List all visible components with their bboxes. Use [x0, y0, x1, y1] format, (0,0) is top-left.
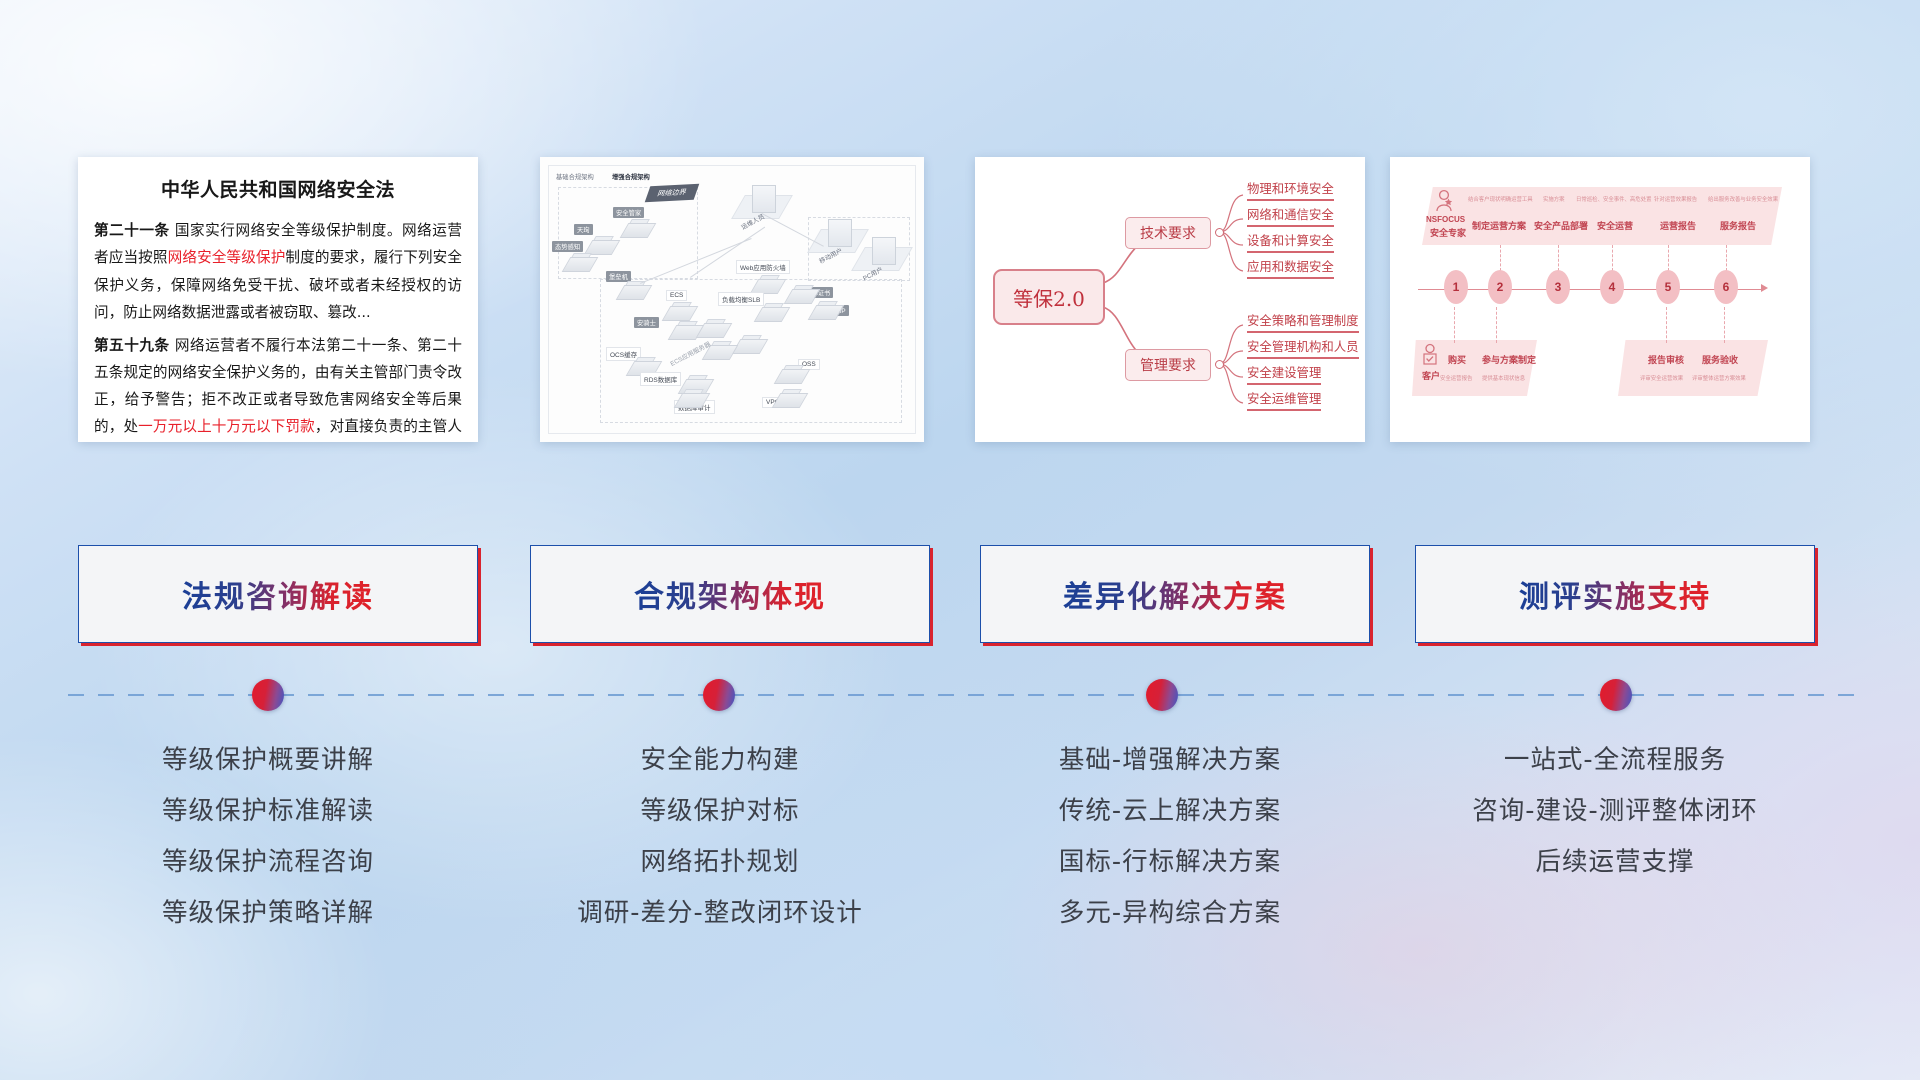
flow-step-2[interactable]: 2 [1488, 270, 1512, 304]
arch-node-tianxun: 天珣 [574, 224, 593, 235]
timeline-dashed-line [68, 694, 1858, 696]
flow-top-sub-1: 结合客户现状明确运营工具 [1468, 195, 1533, 203]
list-item: 安全能力构建 [520, 735, 920, 786]
list-item: 咨询-建设-测评整体闭环 [1405, 786, 1825, 837]
mindmap-branch-management[interactable]: 管理要求 [1125, 349, 1211, 381]
arch-bigtag-boundary: 网络边界 [645, 184, 700, 202]
flow-top-sub-5: 给出服务改善与业务安全效果 [1708, 195, 1778, 203]
mindmap-leaf-mgmt-1: 安全策略和管理制度 [1247, 311, 1359, 333]
mindmap-leaf-mgmt-2: 安全管理机构和人员 [1247, 337, 1359, 359]
list-item: 等级保护流程咨询 [68, 837, 468, 888]
arch-node-situational-awareness: 态势感知 [552, 241, 583, 252]
mindmap-leaf-tech-1: 物理和环境安全 [1247, 179, 1334, 201]
flow-bottom-title-4: 服务验收 [1702, 353, 1738, 366]
detail-column-2: 安全能力构建 等级保护对标 网络拓扑规划 调研-差分-整改闭环设计 [520, 735, 920, 939]
timeline-dot-3[interactable] [1146, 679, 1178, 711]
detail-column-4: 一站式-全流程服务 咨询-建设-测评整体闭环 后续运营支撑 [1405, 735, 1825, 888]
card-nsfocus-flow[interactable]: NSFOCUS 安全专家 客户 结合客户现状明确运营工具 制定运营方案 实施方案… [1390, 157, 1810, 442]
flow-bottom-title-1: 购买 [1448, 353, 1466, 366]
flow-bottom-sub-3: 评审安全运营效果 [1640, 374, 1683, 382]
customer-role: 客户 [1422, 369, 1440, 382]
mindmap-leaf-mgmt-4: 安全运维管理 [1247, 389, 1321, 411]
expert-role: 安全专家 [1430, 226, 1466, 239]
flow-step-4[interactable]: 4 [1600, 270, 1624, 304]
article-21-label: 第二十一条 [94, 222, 170, 239]
heading-box-differentiated-solution[interactable]: 差异化解决方案 [980, 545, 1370, 643]
flow-step-1[interactable]: 1 [1444, 270, 1468, 304]
list-item: 等级保护标准解读 [68, 786, 468, 837]
list-item: 一站式-全流程服务 [1405, 735, 1825, 786]
arch-tab-enhanced: 增强合规架构 [612, 172, 650, 181]
list-item: 基础-增强解决方案 [960, 735, 1380, 786]
list-item: 多元-异构综合方案 [960, 888, 1380, 939]
card-cloud-architecture[interactable]: 基础合规架构 增强合规架构 网络边界 安全管家 天珣 态势感知 堡垒机 ECS … [540, 157, 924, 442]
detail-column-3: 基础-增强解决方案 传统-云上解决方案 国标-行标解决方案 多元-异构综合方案 [960, 735, 1380, 939]
flow-step-3[interactable]: 3 [1546, 270, 1570, 304]
customer-person-icon [1420, 343, 1440, 367]
flow-step-5[interactable]: 5 [1656, 270, 1680, 304]
flow-top-sub-2: 实施方案 [1543, 195, 1565, 203]
mindmap-branch-technical[interactable]: 技术要求 [1125, 217, 1211, 249]
mindmap-leaf-mgmt-3: 安全建设管理 [1247, 363, 1321, 385]
flow-top-title-1: 制定运营方案 [1472, 219, 1526, 232]
heading-label-1: 法规咨询解读 [182, 572, 374, 616]
flow-top-sub-4: 针对运营效果报告 [1654, 195, 1697, 203]
timeline-dot-4[interactable] [1600, 679, 1632, 711]
flow-bottom-sub-1: 安全运营报告 [1440, 374, 1472, 382]
law-title: 中华人民共和国网络安全法 [94, 173, 462, 208]
law-article-21: 第二十一条 国家实行网络安全等级保护制度。网络运营者应当按照网络安全等级保护制度… [94, 217, 462, 326]
timeline-dot-2[interactable] [703, 679, 735, 711]
flow-top-sub-3: 日常巡检、安全事件、高危处置 [1576, 195, 1651, 203]
flow-axis-arrow-icon [1761, 284, 1768, 292]
mindmap-leaf-tech-4: 应用和数据安全 [1247, 257, 1334, 279]
article-21-highlight: 网络安全等级保护 [168, 249, 286, 266]
flow-top-title-2: 安全产品部署 [1534, 219, 1588, 232]
arch-node-anqishi: 安骑士 [634, 317, 659, 328]
arch-node-rds: RDS数据库 [640, 372, 681, 386]
arch-node-security-butler: 安全管家 [613, 207, 644, 218]
timeline-dot-1[interactable] [252, 679, 284, 711]
list-item: 国标-行标解决方案 [960, 837, 1380, 888]
heading-label-3: 差异化解决方案 [1063, 572, 1287, 616]
image-card-row: 中华人民共和国网络安全法 第二十一条 国家实行网络安全等级保护制度。网络运营者应… [0, 157, 1920, 442]
mindmap-leaf-tech-3: 设备和计算安全 [1247, 231, 1334, 253]
arch-node-ecs: ECS [666, 290, 687, 301]
heading-label-2: 合规架构体现 [634, 572, 826, 616]
heading-box-regulation-consulting[interactable]: 法规咨询解读 [78, 545, 478, 643]
flow-axis [1418, 289, 1763, 290]
list-item: 等级保护策略详解 [68, 888, 468, 939]
list-item: 调研-差分-整改闭环设计 [520, 888, 920, 939]
mindmap-collapse-icon[interactable] [1215, 228, 1224, 237]
card-cybersecurity-law[interactable]: 中华人民共和国网络安全法 第二十一条 国家实行网络安全等级保护制度。网络运营者应… [78, 157, 478, 442]
mindmap-collapse-icon-2[interactable] [1215, 360, 1224, 369]
arch-tab-basic: 基础合规架构 [556, 172, 594, 181]
list-item: 等级保护对标 [520, 786, 920, 837]
expert-name: NSFOCUS [1426, 215, 1465, 224]
mindmap-leaf-tech-2: 网络和通信安全 [1247, 205, 1334, 227]
article-59-label: 第五十九条 [94, 337, 170, 354]
heading-box-row: 法规咨询解读 合规架构体现 差异化解决方案 测评实施支持 [0, 545, 1920, 643]
flow-bottom-sub-2: 提供基本现状信息 [1482, 374, 1525, 382]
heading-label-4: 测评实施支持 [1519, 572, 1711, 616]
detail-list-row: 等级保护概要讲解 等级保护标准解读 等级保护流程咨询 等级保护策略详解 安全能力… [0, 735, 1920, 965]
flow-bottom-title-3: 报告审核 [1648, 353, 1684, 366]
flow-bottom-title-2: 参与方案制定 [1482, 353, 1536, 366]
list-item: 后续运营支撑 [1405, 837, 1825, 888]
flow-top-title-4: 运营报告 [1660, 219, 1696, 232]
list-item: 等级保护概要讲解 [68, 735, 468, 786]
list-item: 网络拓扑规划 [520, 837, 920, 888]
law-article-59: 第五十九条 网络运营者不履行本法第二十一条、第二十五条规定的网络安全保护义务的，… [94, 332, 462, 442]
flow-band-bottom-right [1618, 340, 1768, 396]
mindmap-root: 等保2.0 [993, 269, 1105, 325]
flow-top-title-5: 服务报告 [1720, 219, 1756, 232]
detail-column-1: 等级保护概要讲解 等级保护标准解读 等级保护流程咨询 等级保护策略详解 [68, 735, 468, 939]
flow-step-6[interactable]: 6 [1714, 270, 1738, 304]
arch-node-waf: Web应用防火墙 [736, 260, 790, 274]
flow-bottom-sub-4: 评审整体运营方案效果 [1692, 374, 1746, 382]
list-item: 传统-云上解决方案 [960, 786, 1380, 837]
heading-box-compliance-architecture[interactable]: 合规架构体现 [530, 545, 930, 643]
article-59-highlight-1: 一万元以上十万元以下罚款 [138, 418, 315, 435]
heading-box-assessment-support[interactable]: 测评实施支持 [1415, 545, 1815, 643]
flow-top-title-3: 安全运营 [1597, 219, 1633, 232]
card-mindmap-dengbao[interactable]: 等保2.0 技术要求 物理和环境安全 网络和通信安全 设备和计算安全 应用和数据… [975, 157, 1365, 442]
expert-person-icon [1434, 189, 1454, 213]
